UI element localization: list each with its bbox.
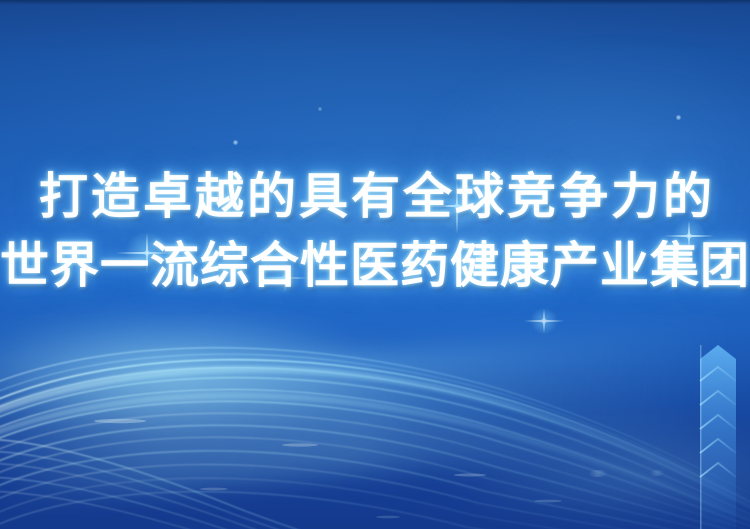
top-edge-shade [0, 0, 750, 5]
headline-line-1: 打造卓越的具有全球竞争力的 [0, 172, 750, 221]
promo-banner: 打造卓越的具有全球竞争力的 世界一流综合性医药健康产业集团 [0, 0, 750, 529]
headline-line-2: 世界一流综合性医药健康产业集团 [0, 241, 750, 290]
wave-crest-highlight [0, 313, 380, 433]
skyscraper-icon [694, 329, 742, 529]
headline-block: 打造卓越的具有全球竞争力的 世界一流综合性医药健康产业集团 [0, 172, 750, 290]
